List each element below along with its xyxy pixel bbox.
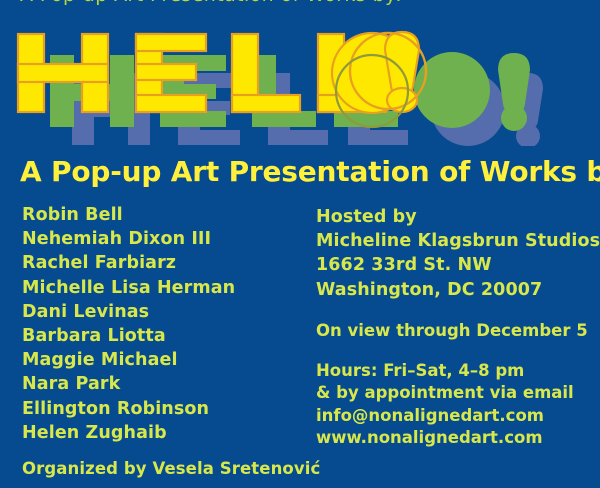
hello-logo-layers <box>0 18 600 146</box>
organizer-credit: Organized by Vesela Sretenović <box>22 459 320 478</box>
host-venue: Micheline Klagsbrun Studios <box>316 229 588 253</box>
hello-logo-svg <box>0 18 600 146</box>
list-item: Rachel Farbiarz <box>22 251 312 275</box>
spacer <box>316 342 588 360</box>
artists-column: Robin Bell Nehemiah Dixon III Rachel Far… <box>22 203 312 445</box>
email-link[interactable]: info@nonalignedart.com <box>316 405 588 428</box>
website-link[interactable]: www.nonalignedart.com <box>316 427 588 450</box>
list-item: Ellington Robinson <box>22 397 312 421</box>
list-item: Michelle Lisa Herman <box>22 276 312 300</box>
on-view-dates: On view through December 5 <box>316 320 588 342</box>
hello-logo <box>0 18 600 146</box>
poster-canvas: A Pop-up Art Presentation of Works by: <box>0 0 600 488</box>
host-intro: Hosted by <box>316 205 588 229</box>
list-item: Barbara Liotta <box>22 324 312 348</box>
host-city-state-zip: Washington, DC 20007 <box>316 278 588 302</box>
venue-column: Hosted by Micheline Klagsbrun Studios 16… <box>316 205 588 450</box>
list-item: Nara Park <box>22 372 312 396</box>
appointment-line: & by appointment via email <box>316 382 588 405</box>
list-item: Helen Zughaib <box>22 421 312 445</box>
page-title: A Pop-up Art Presentation of Works by: <box>20 155 600 188</box>
spacer <box>316 302 588 320</box>
top-cutoff-text: A Pop-up Art Presentation of Works by: <box>20 0 580 6</box>
host-street: 1662 33rd St. NW <box>316 253 588 277</box>
list-item: Dani Levinas <box>22 300 312 324</box>
list-item: Nehemiah Dixon III <box>22 227 312 251</box>
hours-line: Hours: Fri–Sat, 4–8 pm <box>316 360 588 383</box>
list-item: Maggie Michael <box>22 348 312 372</box>
list-item: Robin Bell <box>22 203 312 227</box>
